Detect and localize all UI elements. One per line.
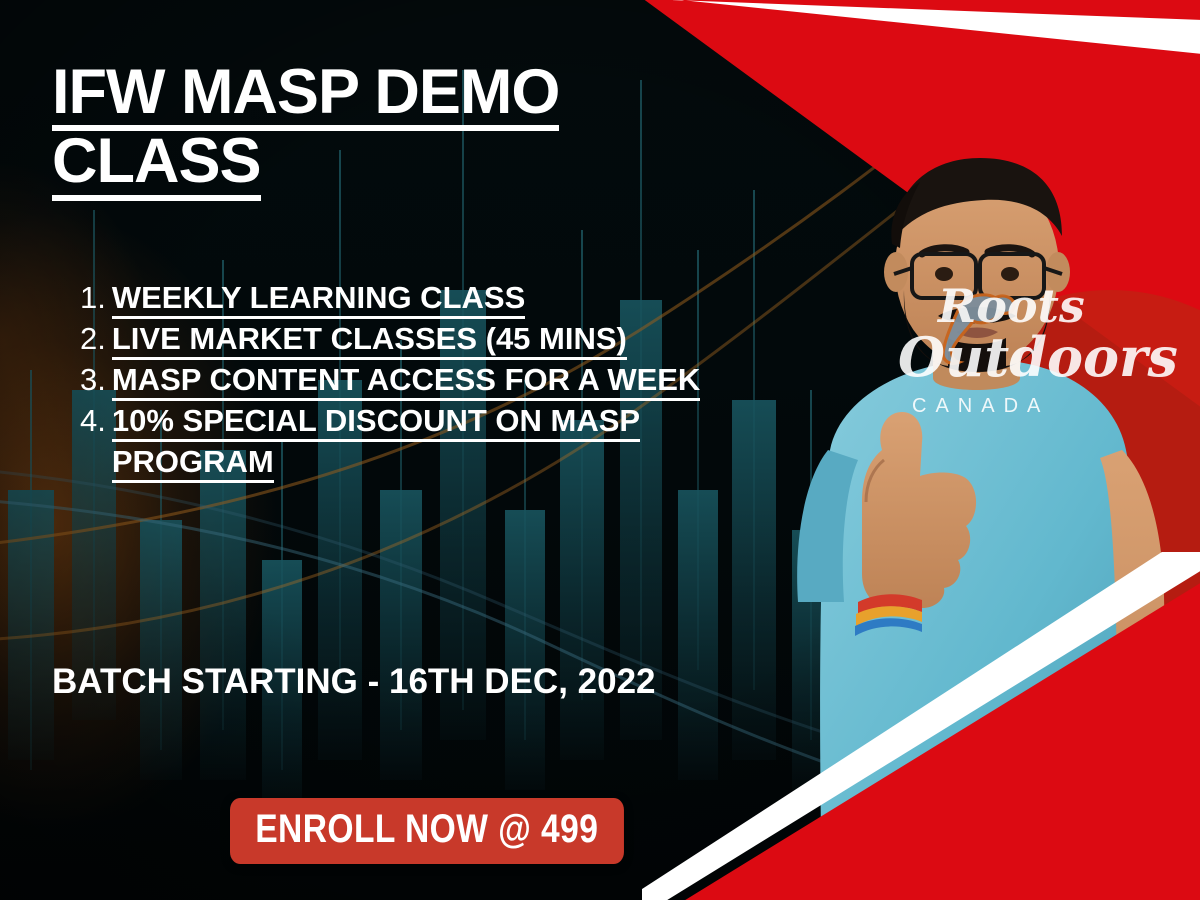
page-title: IFW MASP DEMO CLASS — [52, 62, 752, 201]
list-item: 3. MASP CONTENT ACCESS FOR A WEEK — [80, 360, 780, 401]
svg-text:CANADA: CANADA — [912, 395, 1049, 417]
title-line-2: CLASS — [52, 131, 752, 200]
feature-list: 1. WEEKLY LEARNING CLASS 2. LIVE MARKET … — [80, 278, 780, 483]
list-item: 4. 10% SPECIAL DISCOUNT ON MASP PROGRAM — [80, 401, 780, 483]
svg-text:Outdoors: Outdoors — [898, 325, 1178, 389]
list-item-number: 2. — [80, 319, 112, 360]
list-item-text: 10% SPECIAL DISCOUNT ON MASP PROGRAM — [112, 401, 780, 483]
promo-poster: Roots Outdoors CANADA IFW MASP DEMO CLAS… — [0, 0, 1200, 900]
poster-content: IFW MASP DEMO CLASS 1. WEEKLY LEARNING C… — [0, 0, 780, 900]
list-item-number: 1. — [80, 278, 112, 319]
list-item-text: WEEKLY LEARNING CLASS — [112, 278, 780, 319]
list-item-text: MASP CONTENT ACCESS FOR A WEEK — [112, 360, 780, 401]
list-item: 2. LIVE MARKET CLASSES (45 MINS) — [80, 319, 780, 360]
title-line-1: IFW MASP DEMO — [52, 62, 752, 131]
list-item-number: 4. — [80, 401, 112, 442]
list-item-text: LIVE MARKET CLASSES (45 MINS) — [112, 319, 780, 360]
list-item-number: 3. — [80, 360, 112, 401]
batch-start-date: BATCH STARTING - 16TH DEC, 2022 — [52, 660, 732, 705]
enroll-now-button[interactable]: ENROLL NOW @ 499 — [230, 798, 624, 864]
list-item: 1. WEEKLY LEARNING CLASS — [80, 278, 780, 319]
